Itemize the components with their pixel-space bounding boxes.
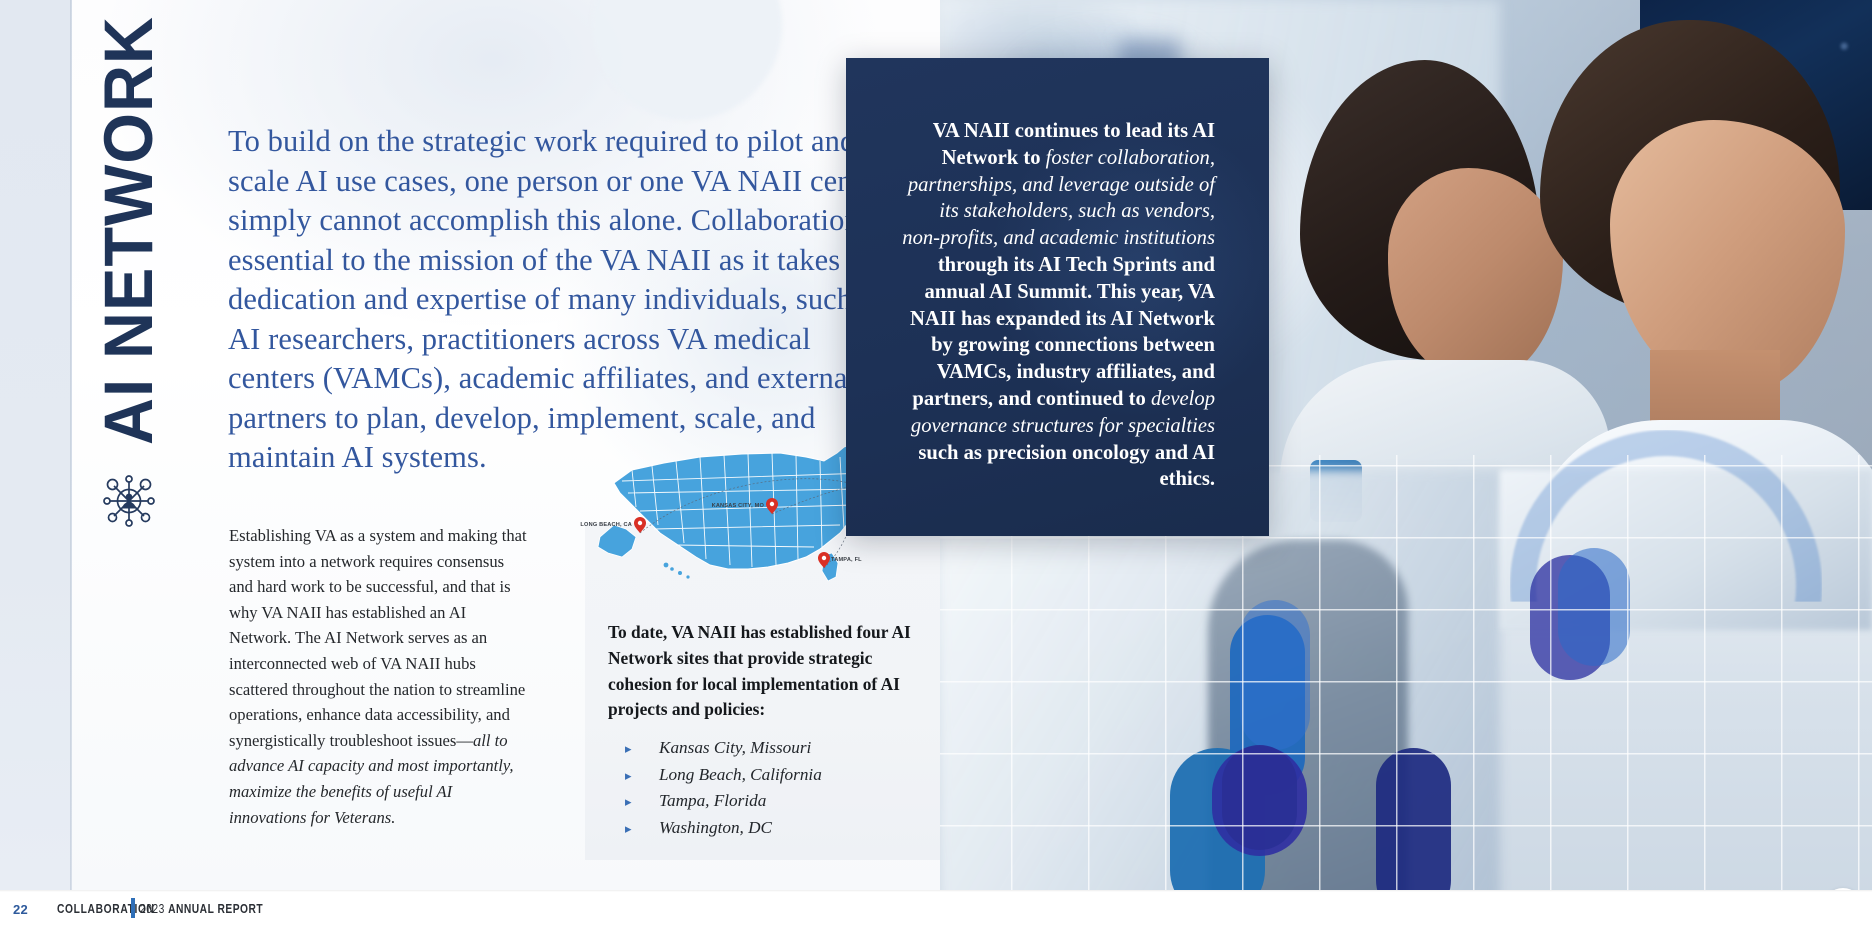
list-item: ▸ Tampa, Florida (625, 788, 925, 815)
list-item: ▸ Long Beach, California (625, 762, 925, 789)
quote-segment-5: such as precision oncology and AI ethics… (918, 442, 1215, 491)
list-item-label: Long Beach, California (659, 762, 925, 788)
list-item-label: Kansas City, Missouri (659, 735, 925, 761)
list-item-label: Tampa, Florida (659, 788, 925, 814)
footer-report-label: 2023 ANNUAL REPORT (140, 902, 263, 916)
footer-report-year: 2023 (140, 902, 168, 916)
footer-report-title: ANNUAL REPORT (168, 902, 263, 916)
page-number-left: 22 (13, 902, 28, 917)
decorative-bar (1222, 745, 1297, 850)
bullet-triangle-icon: ▸ (625, 789, 659, 815)
footer: 22 COLLABORATION 2023 ANNUAL REPORT (0, 890, 1872, 933)
body-paragraph-roman: Establishing VA as a system and making t… (229, 526, 527, 750)
lead-paragraph: To build on the strategic work required … (228, 122, 900, 478)
list-item-label: Washington, DC (659, 815, 925, 841)
bullet-triangle-icon: ▸ (625, 816, 659, 842)
pull-quote-text: VA NAII continues to lead its AI Network… (900, 118, 1215, 493)
pull-quote-card: VA NAII continues to lead its AI Network… (846, 58, 1269, 536)
report-spread: AI NETWORK (0, 0, 1872, 933)
network-people-icon (98, 470, 160, 532)
svg-text:TAMPA, FL: TAMPA, FL (831, 557, 862, 563)
svg-text:KANSAS CITY, MO: KANSAS CITY, MO (712, 503, 765, 509)
svg-text:LONG BEACH, CA: LONG BEACH, CA (580, 522, 632, 528)
body-paragraph: Establishing VA as a system and making t… (229, 523, 529, 830)
decorative-bar (1558, 548, 1630, 666)
bullet-triangle-icon: ▸ (625, 736, 659, 762)
footer-divider (0, 890, 1872, 892)
footer-accent-divider (131, 898, 135, 918)
list-item: ▸ Washington, DC (625, 815, 925, 842)
map-caption: To date, VA NAII has established four AI… (608, 620, 928, 723)
bullet-triangle-icon: ▸ (625, 763, 659, 789)
ai-network-site-list: ▸ Kansas City, Missouri ▸ Long Beach, Ca… (625, 735, 925, 841)
quote-segment-3: through its AI Tech Sprints and annual A… (910, 254, 1215, 410)
page-title: AI NETWORK (84, 95, 174, 445)
decorative-bar (1240, 600, 1310, 750)
section-title-block: AI NETWORK (86, 95, 172, 445)
list-item: ▸ Kansas City, Missouri (625, 735, 925, 762)
left-gutter-strip (0, 0, 72, 890)
